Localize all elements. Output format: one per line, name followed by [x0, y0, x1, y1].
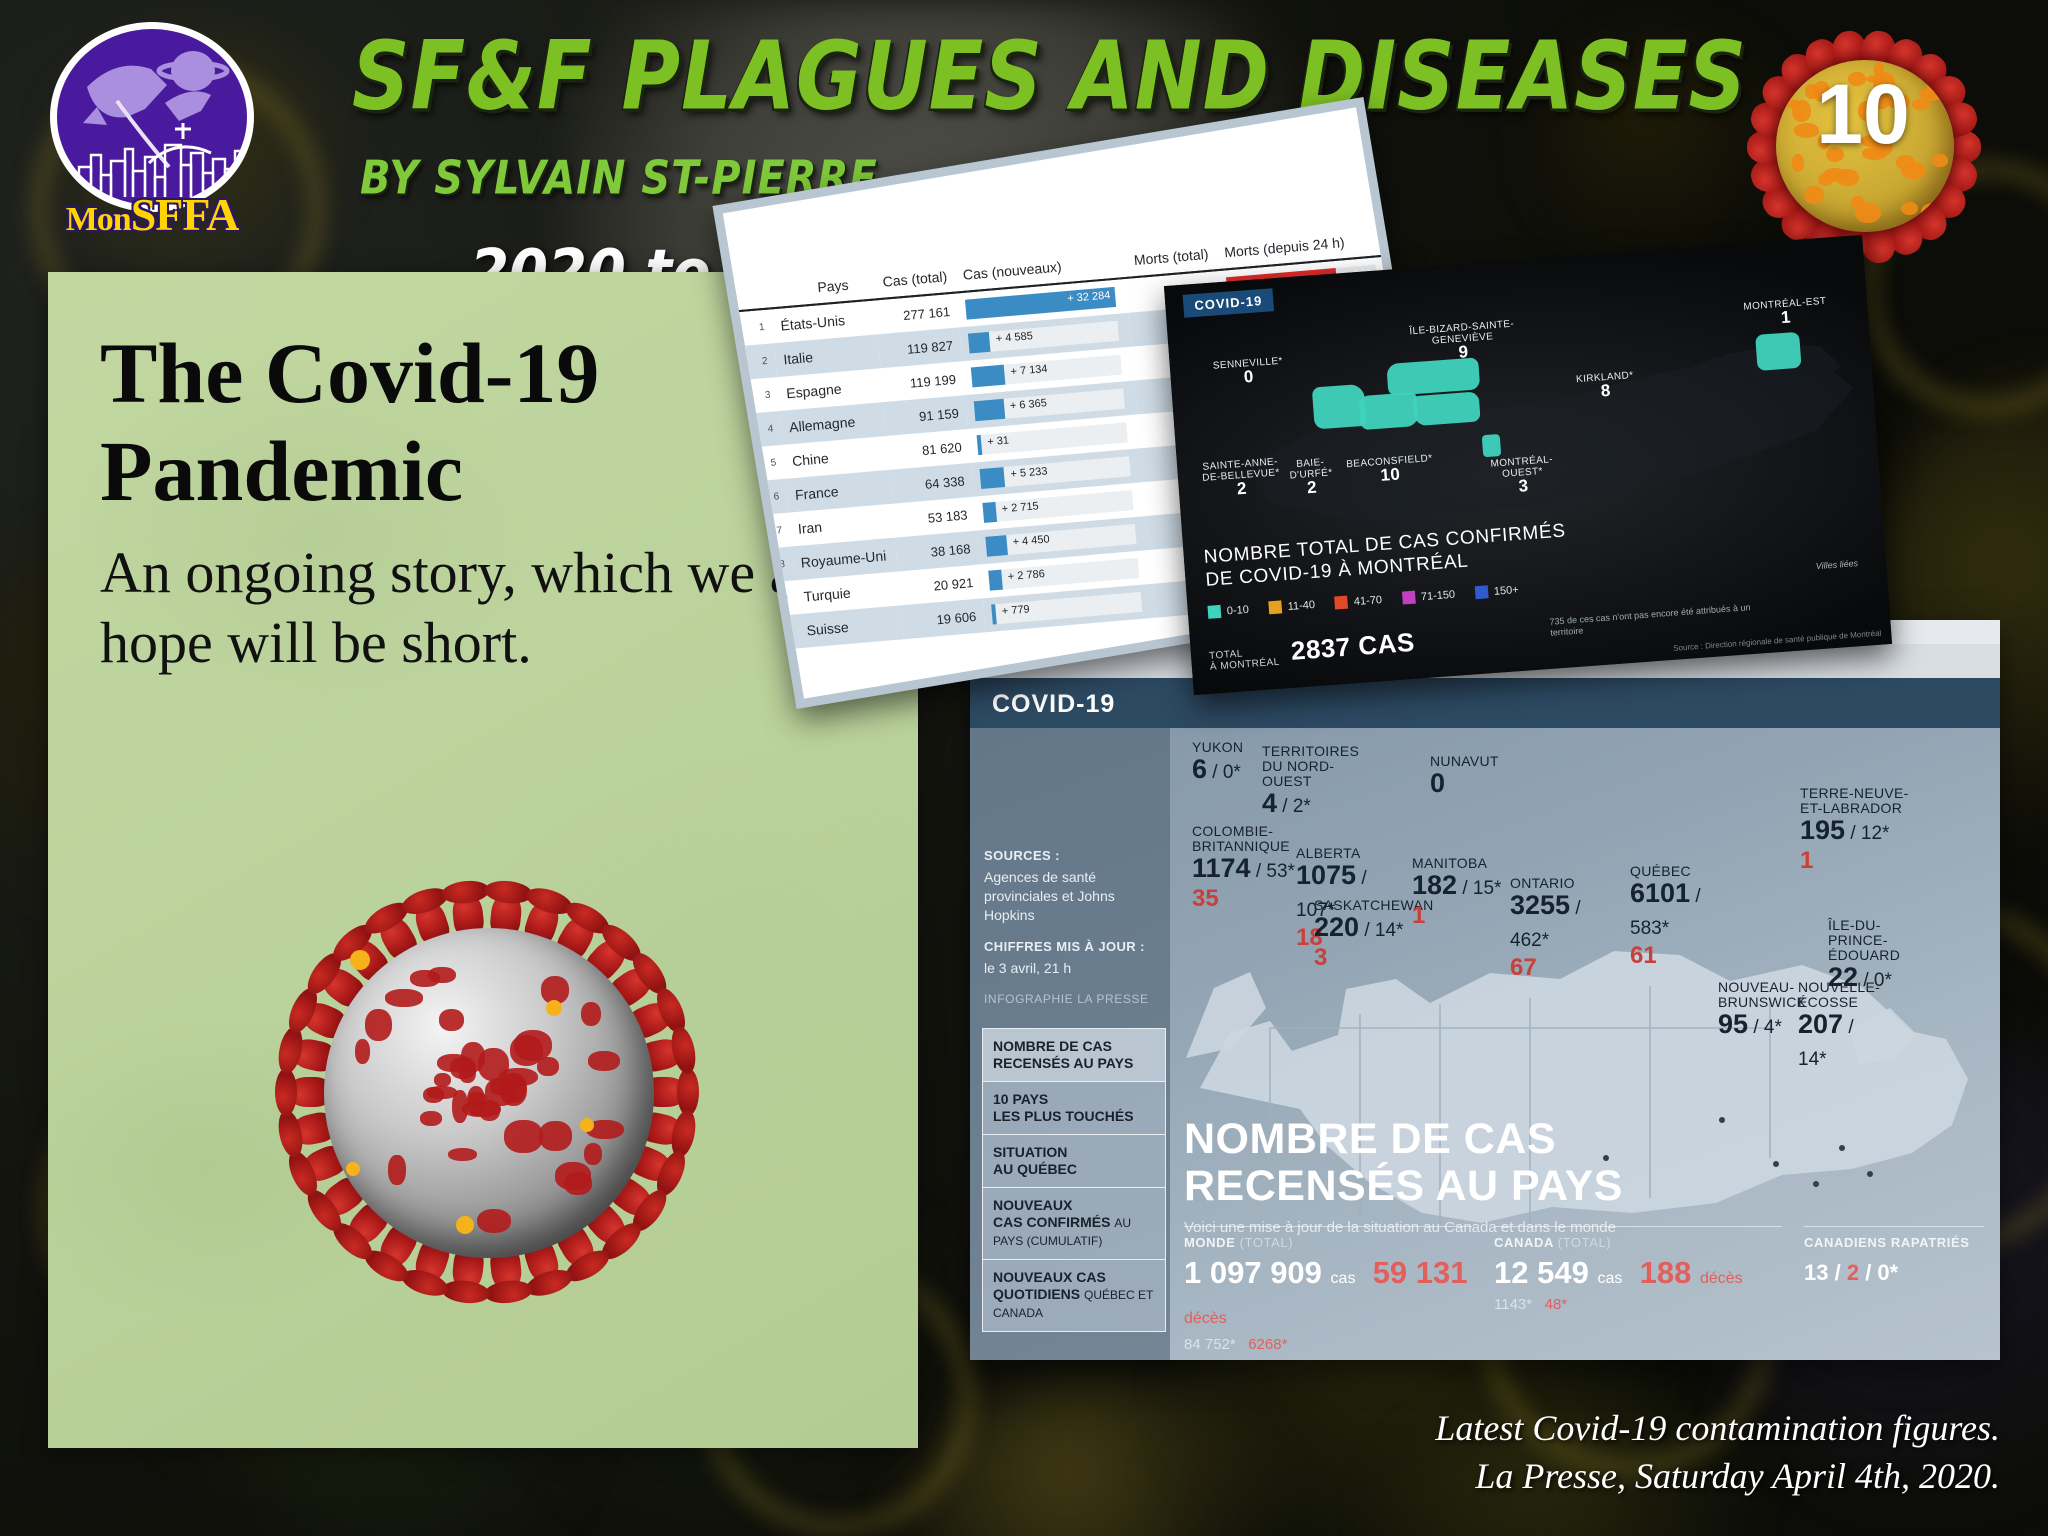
province-cases: 0 — [1430, 769, 1522, 798]
province-deaths: / 15* — [1457, 878, 1501, 899]
legend-label: 41-70 — [1353, 594, 1382, 608]
monsffa-logo: MonSFFA — [36, 22, 268, 237]
total-deaths-unit: décès — [1700, 1270, 1743, 1287]
province-name: NUNAVUT — [1430, 754, 1522, 769]
province-cases: 95 / 4* — [1718, 1010, 1796, 1042]
virus-surface-speck — [437, 1054, 470, 1072]
legend-swatch — [1401, 591, 1415, 605]
total-scope: MONDE (TOTAL) — [1184, 1235, 1472, 1250]
province-name: SASKATCHEWAN — [1314, 898, 1410, 913]
province-deaths: / 0* — [1207, 762, 1241, 783]
screenshot-collage: iPad ◓ COVID-19 — [930, 170, 2030, 1410]
total-column-0: MONDE (TOTAL)1 097 909 cas 59 131 décès8… — [1184, 1226, 1472, 1353]
legend-label: 0-10 — [1226, 603, 1249, 617]
sources-block: SOURCES : Agences de santé provinciales … — [984, 846, 1162, 1009]
menu-line2: LES PLUS TOUCHÉS — [993, 1108, 1155, 1125]
menu-line1: NOUVEAUX CAS — [993, 1269, 1155, 1286]
province-recovered: 35 — [1192, 886, 1302, 911]
province-name: MANITOBA — [1412, 856, 1504, 871]
menu-line2: AU QUÉBEC — [993, 1161, 1155, 1178]
total-values: 1 097 909 cas 59 131 décès — [1184, 1256, 1472, 1336]
province-recovered: 67 — [1510, 955, 1602, 980]
total-deaths: 2 — [1847, 1260, 1859, 1285]
menu-line2: RECENSÉS AU PAYS — [993, 1055, 1155, 1072]
virus-surface-speck — [420, 1111, 442, 1126]
map-title-line2: RECENSÉS AU PAYS — [1184, 1162, 1623, 1210]
legend-swatch — [1334, 596, 1348, 610]
slide-caption: Latest Covid-19 contamination figures. L… — [1435, 1404, 2000, 1500]
virus-body — [324, 928, 654, 1258]
total-qualifier: (TOTAL) — [1558, 1235, 1612, 1250]
borough-shape-3 — [1413, 391, 1481, 426]
province-cases: 3255 / 462* — [1510, 891, 1602, 955]
virus-surface-speck — [385, 989, 423, 1007]
map-title-line1: NOMBRE DE CAS — [1184, 1115, 1556, 1163]
virus-surface-speck — [504, 1120, 543, 1153]
updated-text: le 3 avril, 21 h — [984, 959, 1162, 978]
province-recovered: 61 — [1630, 943, 1722, 968]
virus-accent-speck — [346, 1162, 360, 1176]
borough-shape-2 — [1359, 392, 1419, 430]
menu-line1: NOUVEAUX — [993, 1197, 1155, 1214]
legend-label: 71-150 — [1420, 588, 1455, 602]
sidebar-menu[interactable]: NOMBRE DE CASRECENSÉS AU PAYS10 PAYSLES … — [982, 1028, 1166, 1332]
province-name: ÎLE-DU-PRINCE-ÉDOUARD — [1828, 918, 1928, 963]
total-cases-unit: cas — [1597, 1270, 1622, 1287]
province-stat: QUÉBEC6101 / 583*61 — [1630, 864, 1722, 968]
province-stat: TERRE-NEUVE-ET-LABRADOR195 / 12*1 — [1800, 786, 1920, 873]
province-cases: 207 / 14* — [1798, 1010, 1870, 1074]
virus-surface-speck — [537, 1057, 559, 1076]
borough-shape-6 — [1482, 434, 1502, 457]
total-deaths-unit: décès — [1184, 1310, 1227, 1327]
sidebar-menu-item-2[interactable]: SITUATIONAU QUÉBEC — [982, 1134, 1166, 1187]
menu-line1: NOMBRE DE CAS — [993, 1038, 1155, 1055]
sidebar-menu-item-1[interactable]: 10 PAYSLES PLUS TOUCHÉS — [982, 1081, 1166, 1134]
menu-line1: SITUATION — [993, 1144, 1155, 1161]
province-stat: MANITOBA182 / 15*1 — [1412, 856, 1504, 928]
province-stat: SASKATCHEWAN220 / 14*3 — [1314, 898, 1410, 970]
canada-map: SOURCES : Agences de santé provinciales … — [970, 728, 2000, 1360]
caption-line2: La Presse, Saturday April 4th, 2020. — [1475, 1456, 2000, 1496]
montreal-map-screenshot[interactable]: COVID-19 SENNEVILLE* 0 ÎLE-BIZARD-SAINTE… — [1164, 235, 1892, 695]
legend-swatch — [1268, 600, 1282, 614]
logo-wordmark: MonSFFA — [36, 188, 268, 241]
virus-surface-speck — [365, 1009, 392, 1041]
province-deaths: / 14* — [1798, 1017, 1854, 1070]
province-deaths: / 2* — [1277, 796, 1311, 817]
total-subvalues: 1143* 48* — [1494, 1296, 1782, 1313]
virus-surface-speck — [467, 1086, 486, 1117]
total-column-1: CANADA (TOTAL)12 549 cas 188 décès1143* … — [1494, 1226, 1782, 1353]
province-deaths: / 53* — [1251, 861, 1295, 882]
province-cases: 6101 / 583* — [1630, 879, 1722, 943]
cases-new-bar: + 779 — [991, 592, 1142, 625]
app-header-title: COVID-19 — [970, 678, 2000, 719]
province-name: COLOMBIE-BRITANNIQUE — [1192, 824, 1302, 854]
total-cases: 12 549 — [1494, 1255, 1589, 1290]
virus-surface-speck — [485, 1078, 516, 1106]
menu-line1: 10 PAYS — [993, 1091, 1155, 1108]
sidebar-menu-item-4[interactable]: NOUVEAUX CASQUOTIDIENS QUÉBEC ET CANADA — [982, 1259, 1166, 1332]
province-cases: 4 / 2* — [1262, 789, 1372, 821]
total-values: 12 549 cas 188 décès — [1494, 1256, 1782, 1296]
province-name: QUÉBEC — [1630, 864, 1722, 879]
borough-shape-4 — [1386, 357, 1480, 396]
slide-number: 10 — [1718, 66, 2008, 163]
borough-shape-5 — [1755, 332, 1802, 371]
total-scope: CANADA (TOTAL) — [1494, 1235, 1782, 1250]
legend-swatch — [1207, 605, 1221, 619]
province-deaths: / 14* — [1359, 920, 1403, 941]
province-deaths: / 462* — [1510, 898, 1581, 951]
slide-root: MonSFFA SF&F PLAGUES AND DISEASES BY SYL… — [0, 0, 2048, 1536]
cell-cases-total: 19 606 — [901, 598, 986, 639]
legend-label: 11-40 — [1287, 598, 1315, 612]
virus-surface-speck — [434, 1073, 451, 1087]
coronavirus-illustration — [228, 832, 748, 1352]
total-column-2: CANADIENS RAPATRIÉS13 / 2 / 0* — [1804, 1226, 1984, 1353]
menu-note: AU PAYS (CUMULATIF) — [993, 1216, 1131, 1248]
caption-line1: Latest Covid-19 contamination figures. — [1435, 1408, 2000, 1448]
virus-accent-speck — [580, 1118, 594, 1132]
city-skyline-icon — [77, 127, 245, 197]
province-name: TERRE-NEUVE-ET-LABRADOR — [1800, 786, 1920, 816]
province-stat: COLOMBIE-BRITANNIQUE1174 / 53*35 — [1192, 824, 1302, 911]
total-subvalues: 84 752* 6268* — [1184, 1336, 1472, 1353]
area-label-montreal-ouest: MONTRÉAL-OUEST* 3 — [1483, 454, 1561, 494]
province-cases: 1174 / 53* — [1192, 854, 1302, 886]
province-deaths: / 12* — [1845, 823, 1889, 844]
virus-surface-speck — [584, 1143, 603, 1165]
province-cases: 195 / 12* — [1800, 816, 1920, 848]
virus-surface-speck — [355, 1039, 370, 1064]
total-cases: 13 — [1804, 1260, 1828, 1285]
logo-sffa: SFFA — [131, 189, 239, 240]
virus-surface-speck — [539, 1121, 572, 1151]
app-header: COVID-19 — [970, 678, 2000, 728]
sources-label: SOURCES : — [984, 846, 1162, 865]
total-sub: 0* — [1877, 1260, 1898, 1285]
virus-surface-speck — [555, 1162, 590, 1190]
total-deaths: 59 131 — [1373, 1255, 1468, 1290]
virus-surface-speck — [439, 1009, 465, 1031]
province-name: TERRITOIRES DU NORD-OUEST — [1262, 744, 1372, 789]
menu-line2: QUOTIDIENS QUÉBEC ET CANADA — [993, 1286, 1155, 1322]
total-scope: CANADIENS RAPATRIÉS — [1804, 1235, 1984, 1250]
virus-accent-speck — [350, 950, 370, 970]
total-cases-unit: cas — [1331, 1270, 1356, 1287]
province-deaths: / 583* — [1630, 886, 1701, 939]
infographic-credit: INFOGRAPHIE LA PRESSE — [984, 990, 1162, 1009]
menu-line2: CAS CONFIRMÉS AU PAYS (CUMULATIF) — [993, 1214, 1155, 1250]
cell-rank: 1 — [729, 308, 774, 346]
total-qualifier: (TOTAL) — [1240, 1235, 1294, 1250]
sidebar-menu-item-0[interactable]: NOMBRE DE CASRECENSÉS AU PAYS — [982, 1028, 1166, 1081]
virus-surface-speck — [448, 1148, 478, 1161]
lapresse-ipad-screenshot[interactable]: iPad ◓ COVID-19 — [970, 620, 2000, 1360]
legend-swatch — [1475, 585, 1489, 599]
virus-surface-speck — [410, 970, 440, 987]
virus-surface-speck — [581, 1002, 601, 1027]
logo-oval — [50, 22, 254, 212]
map-title-block: NOMBRE DE CAS RECENSÉS AU PAYS Voici une… — [1184, 1116, 1623, 1236]
province-recovered: 1 — [1800, 848, 1920, 873]
virus-accent-speck — [456, 1216, 474, 1234]
province-name: ONTARIO — [1510, 876, 1602, 891]
province-stat: NOUVEAU-BRUNSWICK95 / 4* — [1718, 980, 1796, 1042]
area-label-sainte-anne: SAINTE-ANNE-DE-BELLEVUE* 2 — [1197, 456, 1285, 497]
province-stat: TERRITOIRES DU NORD-OUEST4 / 2* — [1262, 744, 1372, 821]
virus-accent-speck — [546, 1000, 562, 1016]
sources-text: Agences de santé provinciales et Johns H… — [984, 868, 1162, 925]
province-recovered: 1 — [1412, 903, 1504, 928]
th-rank — [727, 283, 771, 311]
total-deaths: 188 — [1640, 1255, 1692, 1290]
province-stat: NOUVELLE-ÉCOSSE207 / 14* — [1798, 980, 1870, 1074]
virus-surface-speck — [477, 1209, 511, 1233]
province-cases: 220 / 14* — [1314, 913, 1410, 945]
total-cases: 1 097 909 — [1184, 1255, 1322, 1290]
virus-surface-speck — [478, 1048, 509, 1081]
virus-surface-speck — [388, 1155, 405, 1185]
province-name: ALBERTA — [1296, 846, 1388, 861]
total-values: 13 / 2 / 0* — [1804, 1256, 1984, 1290]
province-cases: 182 / 15* — [1412, 871, 1504, 903]
province-stat: NUNAVUT0 — [1430, 754, 1522, 798]
legend-label: 150+ — [1493, 584, 1519, 598]
updated-label: CHIFFRES MIS À JOUR : — [984, 937, 1162, 956]
slide-title: SF&F PLAGUES AND DISEASES — [352, 26, 1712, 127]
province-stat: ONTARIO3255 / 462*67 — [1510, 876, 1602, 980]
province-recovered: 3 — [1314, 945, 1410, 970]
province-name: NOUVEAU-BRUNSWICK — [1718, 980, 1796, 1010]
sidebar-menu-item-3[interactable]: NOUVEAUXCAS CONFIRMÉS AU PAYS (CUMULATIF… — [982, 1187, 1166, 1259]
province-name: NOUVELLE-ÉCOSSE — [1798, 980, 1870, 1010]
logo-mon: Mon — [66, 201, 131, 238]
province-deaths: / 4* — [1748, 1017, 1782, 1038]
totals-row: MONDE (TOTAL)1 097 909 cas 59 131 décès8… — [1184, 1226, 1984, 1353]
virus-surface-speck — [423, 1087, 444, 1104]
area-label-baie-durfe: BAIE-D'URFÉ* 2 — [1283, 456, 1339, 495]
virus-surface-speck — [588, 1051, 620, 1071]
menu-note: QUÉBEC ET CANADA — [993, 1288, 1153, 1320]
